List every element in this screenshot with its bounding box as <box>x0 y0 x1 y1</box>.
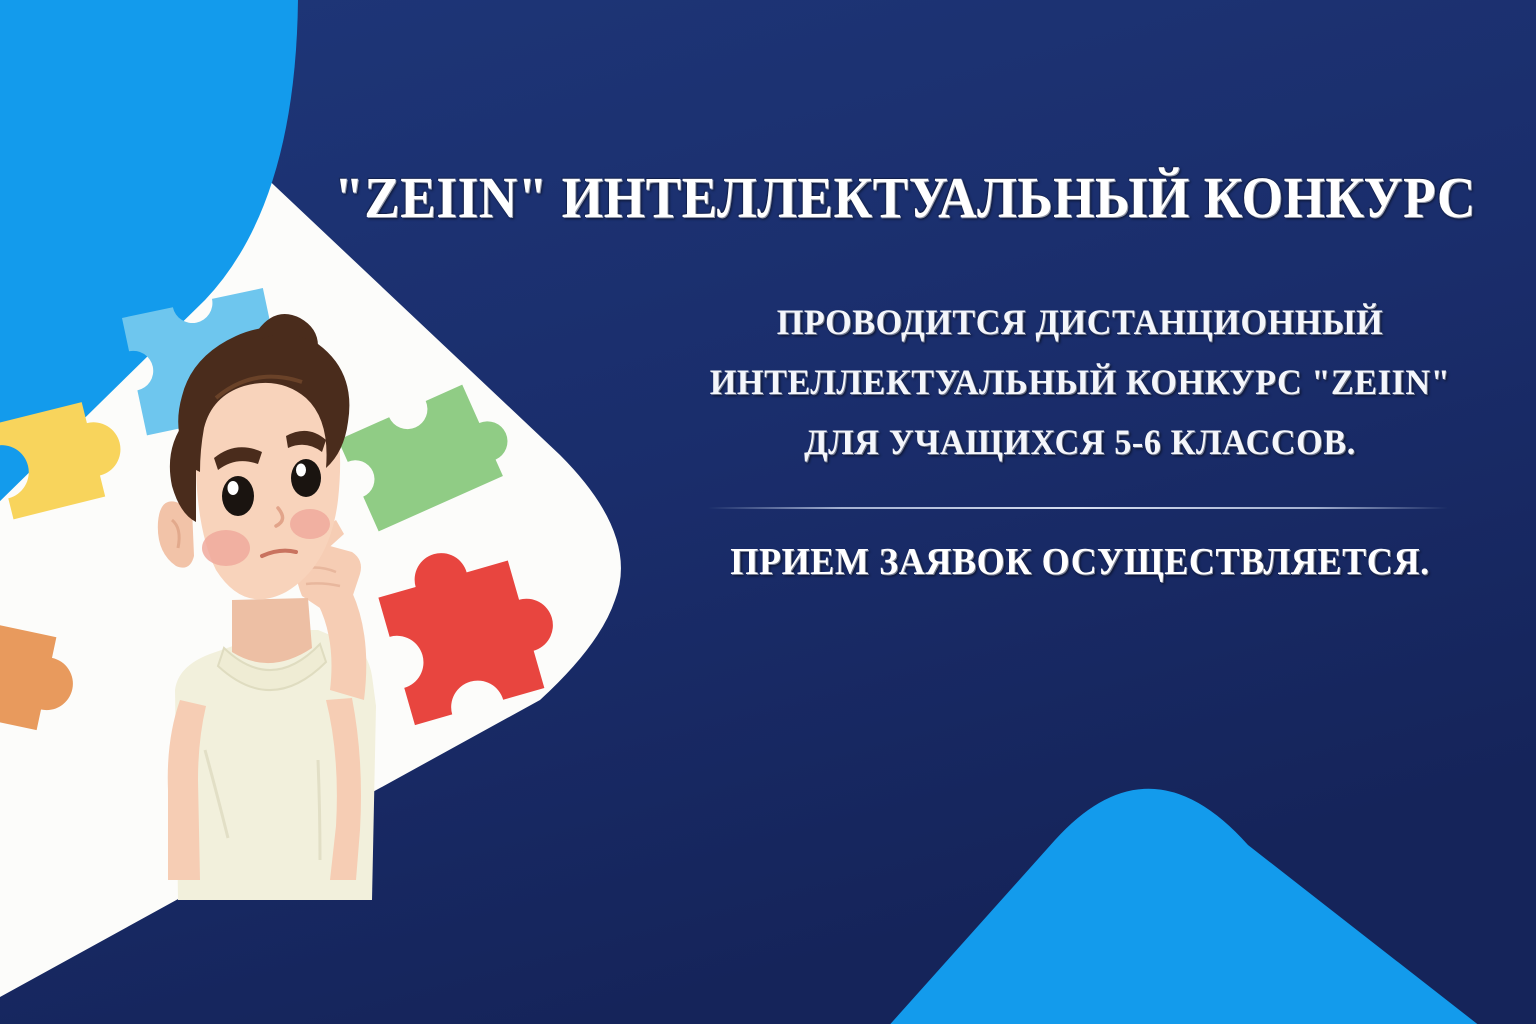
section-divider <box>708 507 1448 509</box>
puzzle-piece-orange <box>0 618 82 736</box>
boy-forearm-right <box>300 560 366 700</box>
poster-canvas: "ZEIIN" ИНТЕЛЛЕКТУАЛЬНЫЙ КОНКУРС ПРОВОДИ… <box>0 0 1536 1024</box>
boy-hair-tuft <box>258 314 318 346</box>
white-chevron-panel <box>0 120 621 1024</box>
boy-face <box>195 362 340 600</box>
boy-shirt-fold-left <box>205 750 228 838</box>
body-line-1: ПРОВОДИТСЯ ДИСТАНЦИОННЫЙ <box>672 292 1489 352</box>
boy-hair-highlight <box>216 377 302 398</box>
boy-ear <box>158 501 194 567</box>
boy-nose <box>276 508 283 526</box>
boy-finger-crease-1 <box>306 568 336 573</box>
boy-shirt <box>175 630 376 900</box>
body-line-3: ДЛЯ УЧАЩИХСЯ 5-6 КЛАССОВ. <box>672 412 1489 472</box>
body-line-2: ИНТЕЛЛЕКТУАЛЬНЫЙ КОНКУРС "ZEIIN" <box>672 352 1489 412</box>
boy-cheek-right <box>290 509 330 539</box>
boy-eyebrow-right <box>286 431 326 452</box>
text-content: "ZEIIN" ИНТЕЛЛЕКТУАЛЬНЫЙ КОНКУРС ПРОВОДИ… <box>640 0 1520 1024</box>
boy-cheek-left <box>202 530 250 566</box>
boy-hair <box>178 328 349 472</box>
puzzle-piece-blue <box>122 284 307 435</box>
boy-eye-right-glint <box>296 464 306 477</box>
boy-ear-inner <box>172 520 179 548</box>
boy-shirt-fold-right <box>318 760 320 860</box>
boy-eye-left <box>222 476 254 516</box>
puzzle-piece-green <box>338 377 521 532</box>
puzzle-piece-red <box>371 528 570 725</box>
footer-text: ПРИЕМ ЗАЯВОК ОСУЩЕСТВЛЯЕТСЯ. <box>672 540 1489 584</box>
boy-arm-left <box>168 700 206 880</box>
boy-hair-sweep <box>170 420 202 522</box>
puzzle-piece-yellow <box>0 396 131 520</box>
boy-eye-right <box>291 459 321 497</box>
boy-index-finger <box>300 520 344 566</box>
body-text-block: ПРОВОДИТСЯ ДИСТАНЦИОННЫЙ ИНТЕЛЛЕКТУАЛЬНЫ… <box>650 292 1510 472</box>
boy-mouth <box>262 551 296 556</box>
boy-hand <box>296 544 361 608</box>
boy-eyebrow-left <box>214 447 262 470</box>
boy-finger-crease-2 <box>306 583 340 586</box>
thinking-boy-illustration <box>158 314 376 900</box>
page-title: "ZEIIN" ИНТЕЛЛЕКТУАЛЬНЫЙ КОНКУРС <box>330 167 1480 230</box>
blue-shape-top-left <box>0 0 298 560</box>
boy-eye-left-glint <box>228 481 239 495</box>
boy-collar <box>218 644 326 690</box>
boy-neck <box>232 598 312 663</box>
boy-arm-right <box>326 698 361 880</box>
